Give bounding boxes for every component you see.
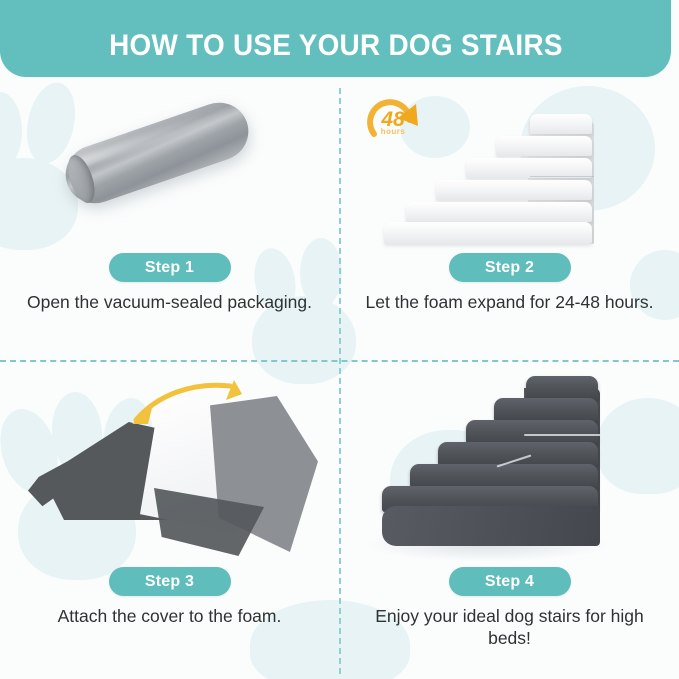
vacuum-sealed-roll-icon xyxy=(58,95,257,212)
step-caption-2: Let the foam expand for 24-48 hours. xyxy=(360,291,660,313)
attach-direction-arrow-icon xyxy=(130,378,248,426)
step-badge-4: Step 4 xyxy=(449,567,571,596)
step-1-illustration xyxy=(0,88,339,253)
cover-over-foam-icon xyxy=(22,370,322,560)
finished-grey-dog-stairs-icon xyxy=(368,368,658,564)
infographic-root: HOW TO USE YOUR DOG STAIRS Step 1 Open t… xyxy=(0,0,679,679)
step-panel-1: Step 1 Open the vacuum-sealed packaging. xyxy=(0,88,339,360)
step-panel-4: Step 4 Enjoy your ideal dog stairs for h… xyxy=(340,362,679,679)
step-badge-label: Step 1 xyxy=(145,259,194,277)
step-caption-3: Attach the cover to the foam. xyxy=(20,605,320,627)
step-badge-1: Step 1 xyxy=(109,253,231,282)
step-3-illustration xyxy=(0,362,339,567)
step-badge-label: Step 3 xyxy=(145,573,194,591)
step-2-illustration: 48 hours xyxy=(340,88,679,253)
step-panel-3: Step 3 Attach the cover to the foam. xyxy=(0,362,339,679)
header-banner: HOW TO USE YOUR DOG STAIRS xyxy=(0,0,671,77)
step-panel-2: 48 hours Step 2 Let the foam expand for … xyxy=(340,88,679,360)
step-badge-label: Step 4 xyxy=(485,573,534,591)
white-foam-stairs-icon xyxy=(378,104,628,244)
step-badge-3: Step 3 xyxy=(109,567,231,596)
step-badge-label: Step 2 xyxy=(485,259,534,277)
step-4-illustration xyxy=(340,362,679,567)
step-caption-1: Open the vacuum-sealed packaging. xyxy=(20,291,320,313)
step-caption-4: Enjoy your ideal dog stairs for high bed… xyxy=(360,605,660,649)
step-badge-2: Step 2 xyxy=(449,253,571,282)
page-title: HOW TO USE YOUR DOG STAIRS xyxy=(109,29,563,63)
